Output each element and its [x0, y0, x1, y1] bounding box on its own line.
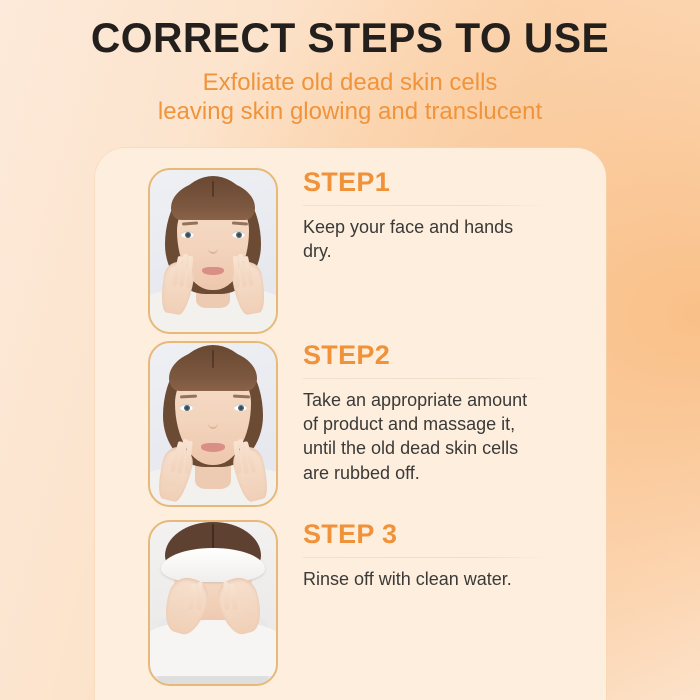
step-3-text: STEP 3 Rinse off with clean water. — [303, 520, 606, 591]
step-row: STEP1 Keep your face and hands dry. — [95, 168, 606, 334]
step-body: Rinse off with clean water. — [303, 567, 584, 591]
step-body: Keep your face and hands dry. — [303, 215, 584, 264]
step-3-photo — [148, 520, 278, 686]
step-body-line: Keep your face and hands — [303, 215, 584, 239]
step-body: Take an appropriate amount of product an… — [303, 388, 584, 485]
step-body-line: of product and massage it, — [303, 412, 584, 436]
step-1-text: STEP1 Keep your face and hands dry. — [303, 168, 606, 263]
header: CORRECT STEPS TO USE Exfoliate old dead … — [0, 0, 700, 127]
step-body-line: until the old dead skin cells — [303, 436, 584, 460]
step-label: STEP 3 — [303, 520, 584, 550]
subtitle-line-1: Exfoliate old dead skin cells — [0, 68, 700, 97]
step-label: STEP2 — [303, 341, 584, 371]
step-row: STEP 3 Rinse off with clean water. — [95, 520, 606, 686]
step-body-line: Rinse off with clean water. — [303, 567, 584, 591]
step-body-line: are rubbed off. — [303, 461, 584, 485]
page-title: CORRECT STEPS TO USE — [11, 16, 690, 60]
step-body-line: dry. — [303, 239, 584, 263]
step-divider — [303, 378, 548, 379]
step-row: STEP2 Take an appropriate amount of prod… — [95, 341, 606, 507]
infographic-page: CORRECT STEPS TO USE Exfoliate old dead … — [0, 0, 700, 700]
steps-list: STEP1 Keep your face and hands dry. — [95, 148, 606, 700]
step-2-text: STEP2 Take an appropriate amount of prod… — [303, 341, 606, 485]
step-label: STEP1 — [303, 168, 584, 198]
steps-card: STEP1 Keep your face and hands dry. — [95, 148, 606, 700]
step-divider — [303, 205, 548, 206]
step-divider — [303, 557, 548, 558]
step-2-photo — [148, 341, 278, 507]
step-1-photo — [148, 168, 278, 334]
step-body-line: Take an appropriate amount — [303, 388, 584, 412]
page-subtitle: Exfoliate old dead skin cells leaving sk… — [0, 68, 700, 127]
subtitle-line-2: leaving skin glowing and translucent — [0, 97, 700, 126]
